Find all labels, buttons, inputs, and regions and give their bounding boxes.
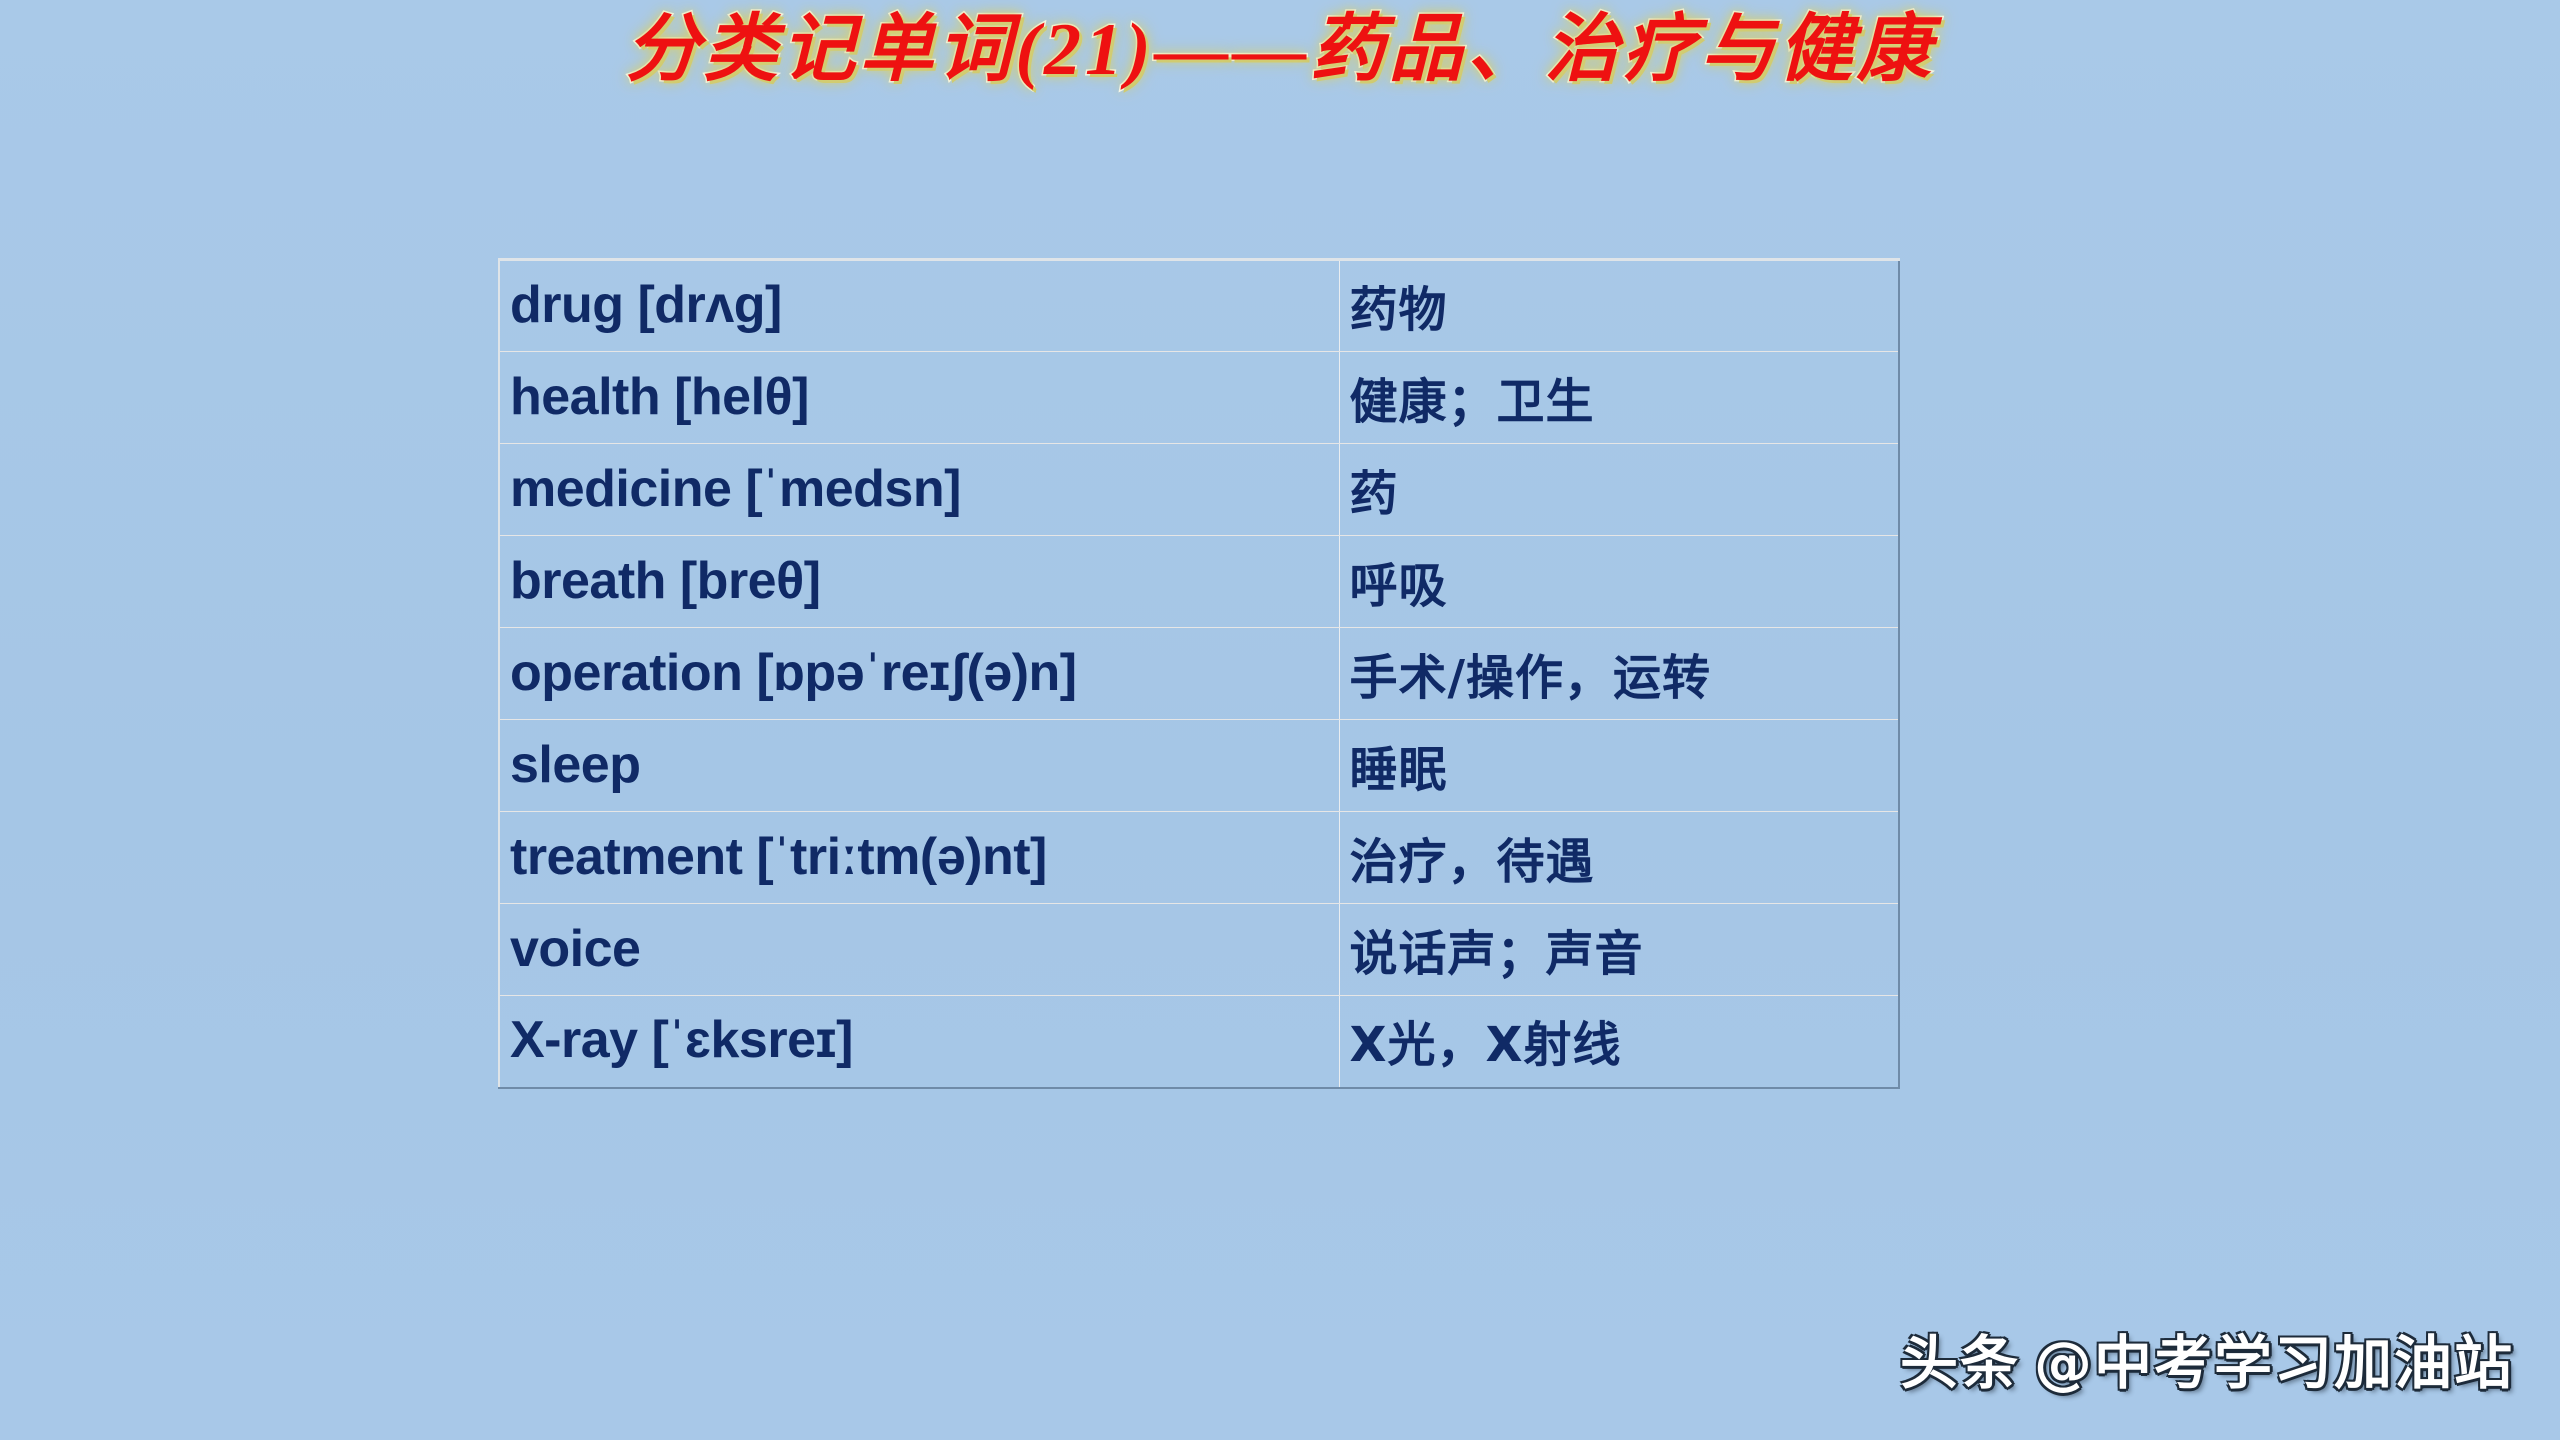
table-row: sleep 睡眠 xyxy=(499,720,1899,812)
table-cell-word: medicine [ˈmedsn] xyxy=(499,444,1339,536)
table-cell-meaning: 说话声；声音 xyxy=(1339,904,1899,996)
table-cell-meaning: 手术/操作，运转 xyxy=(1339,628,1899,720)
table-cell-word: X-ray [ˈɛksreɪ] xyxy=(499,996,1339,1088)
watermark: 头条@中考学习加油站 xyxy=(1900,1316,2514,1400)
table-cell-word: operation [ɒpəˈreɪʃ(ə)n] xyxy=(499,628,1339,720)
table-cell-word: health [helθ] xyxy=(499,352,1339,444)
table-row: drug [drʌg] 药物 xyxy=(499,260,1899,352)
table-cell-meaning: 药 xyxy=(1339,444,1899,536)
table-cell-meaning: 药物 xyxy=(1339,260,1899,352)
table-cell-word: drug [drʌg] xyxy=(499,260,1339,352)
table-cell-meaning: 呼吸 xyxy=(1339,536,1899,628)
table-row: medicine [ˈmedsn] 药 xyxy=(499,444,1899,536)
title-bar: 分类记单词(21)——药品、治疗与健康 xyxy=(0,8,2560,118)
table-cell-word: sleep xyxy=(499,720,1339,812)
watermark-handle: @中考学习加油站 xyxy=(2034,1329,2514,1397)
table-row: breath [breθ] 呼吸 xyxy=(499,536,1899,628)
vocabulary-table: drug [drʌg] 药物 health [helθ] 健康；卫生 medic… xyxy=(498,258,1900,1089)
table-row: health [helθ] 健康；卫生 xyxy=(499,352,1899,444)
table-row: voice 说话声；声音 xyxy=(499,904,1899,996)
table-row: X-ray [ˈɛksreɪ] X光，X射线 xyxy=(499,996,1899,1088)
table-cell-word: voice xyxy=(499,904,1339,996)
table-row: treatment [ˈtriːtm(ə)nt] 治疗，待遇 xyxy=(499,812,1899,904)
watermark-brand: 头条 xyxy=(1900,1329,2020,1397)
table-cell-meaning: 睡眠 xyxy=(1339,720,1899,812)
vocabulary-table-body: drug [drʌg] 药物 health [helθ] 健康；卫生 medic… xyxy=(499,260,1899,1088)
table-cell-word: treatment [ˈtriːtm(ə)nt] xyxy=(499,812,1339,904)
slide-canvas: 分类记单词(21)——药品、治疗与健康 drug [drʌg] 药物 healt… xyxy=(0,0,2560,1440)
page-title: 分类记单词(21)——药品、治疗与健康 xyxy=(625,8,1934,93)
table-cell-word: breath [breθ] xyxy=(499,536,1339,628)
table-row: operation [ɒpəˈreɪʃ(ə)n] 手术/操作，运转 xyxy=(499,628,1899,720)
vocabulary-table-container: drug [drʌg] 药物 health [helθ] 健康；卫生 medic… xyxy=(498,258,1898,1089)
table-cell-meaning: 健康；卫生 xyxy=(1339,352,1899,444)
table-cell-meaning: X光，X射线 xyxy=(1339,996,1899,1088)
table-cell-meaning: 治疗，待遇 xyxy=(1339,812,1899,904)
